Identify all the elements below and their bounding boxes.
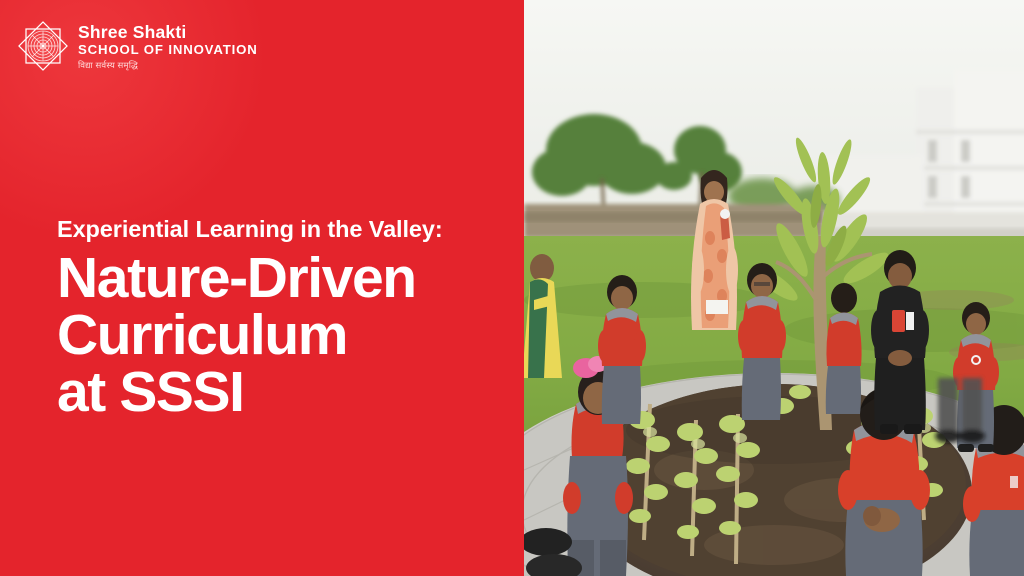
campus-photo bbox=[524, 0, 1024, 576]
mandala-octagram-icon bbox=[17, 20, 69, 72]
title-line-2: Curriculum bbox=[57, 307, 507, 364]
title-line-3: at SSSI bbox=[57, 364, 507, 421]
brand-logo[interactable]: Shree Shakti SCHOOL OF INNOVATION विद्या… bbox=[17, 20, 258, 72]
eyebrow-text: Experiential Learning in the Valley: bbox=[57, 214, 507, 244]
title-line-1: Nature-Driven bbox=[57, 250, 507, 307]
brand-text-lockup: Shree Shakti SCHOOL OF INNOVATION विद्या… bbox=[78, 21, 258, 71]
page-title: Nature-Driven Curriculum at SSSI bbox=[57, 250, 507, 421]
banner-stage: Shree Shakti SCHOOL OF INNOVATION विद्या… bbox=[0, 0, 1024, 576]
headline-block: Experiential Learning in the Valley: Nat… bbox=[57, 214, 507, 421]
red-panel: Shree Shakti SCHOOL OF INNOVATION विद्या… bbox=[0, 0, 524, 576]
brand-name: Shree Shakti bbox=[78, 22, 258, 42]
brand-tagline-devanagari: विद्या सर्वस्य समृद्धि bbox=[78, 59, 258, 71]
brand-subtitle: SCHOOL OF INNOVATION bbox=[78, 42, 258, 58]
